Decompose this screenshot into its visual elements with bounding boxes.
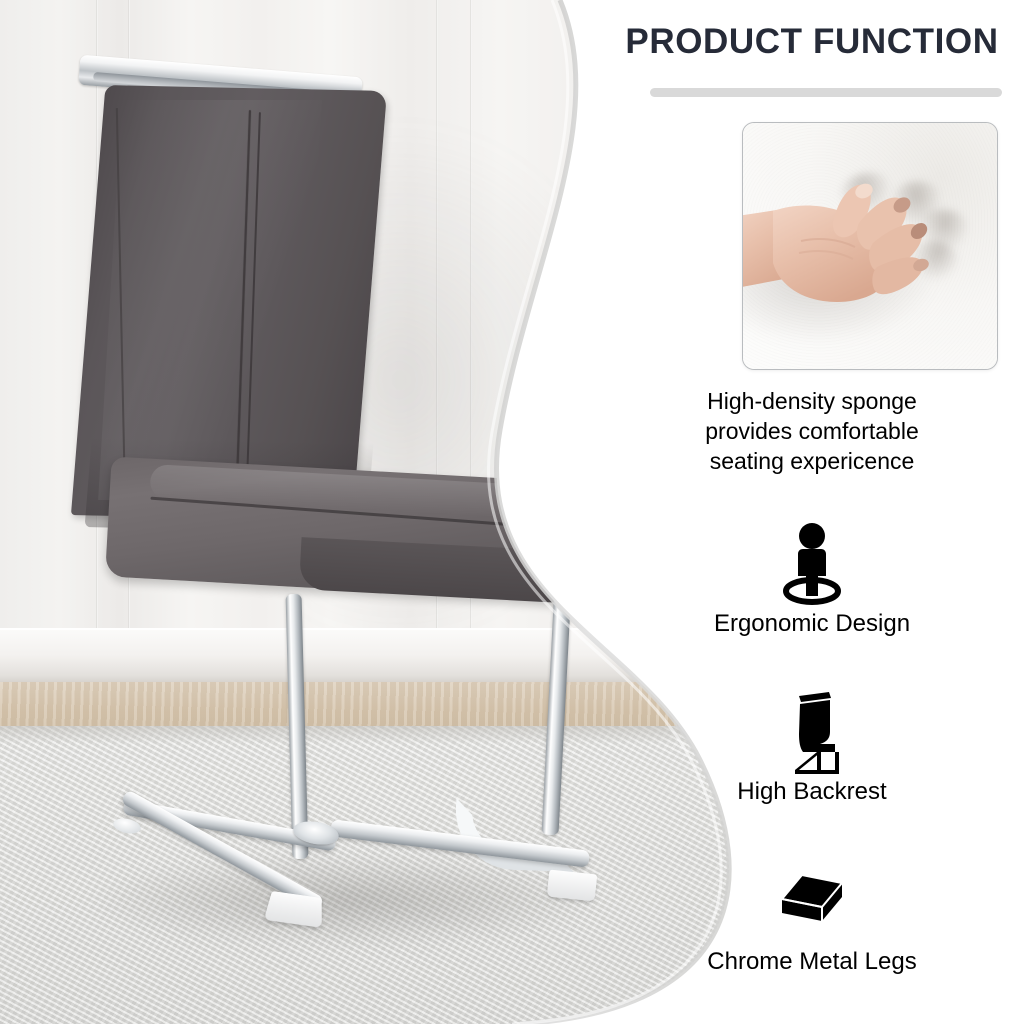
sponge-caption-line-1: High-density sponge bbox=[612, 386, 1012, 416]
hand-illustration bbox=[742, 157, 998, 357]
sponge-caption: High-density sponge provides comfortable… bbox=[612, 386, 1012, 476]
floor-glide bbox=[547, 870, 598, 902]
infographic-canvas: PRODUCT FUNCTION bbox=[0, 0, 1024, 1024]
chrome-leg-rear bbox=[286, 594, 309, 859]
feature-high-backrest: High Backrest bbox=[600, 686, 1024, 806]
info-panel: PRODUCT FUNCTION bbox=[600, 0, 1024, 1024]
page-title: PRODUCT FUNCTION bbox=[600, 22, 1024, 62]
feature-ergonomic-design: Ergonomic Design bbox=[600, 518, 1024, 638]
chrome-leg-front bbox=[541, 585, 571, 836]
feature-label: Chrome Metal Legs bbox=[600, 948, 1024, 976]
title-divider-bar bbox=[650, 88, 1002, 97]
feature-label: Ergonomic Design bbox=[600, 610, 1024, 638]
feature-chrome-metal-legs: Chrome Metal Legs bbox=[600, 856, 1024, 976]
sponge-caption-line-2: provides comfortable bbox=[612, 416, 1012, 446]
sponge-photo-card bbox=[742, 122, 998, 370]
sponge-caption-line-3: seating expericence bbox=[612, 446, 1012, 476]
metal-bar-icon bbox=[600, 856, 1024, 948]
feature-label: High Backrest bbox=[600, 778, 1024, 806]
high-back-chair-icon bbox=[600, 686, 1024, 778]
person-in-circle-icon bbox=[600, 518, 1024, 610]
chrome-base-cap bbox=[112, 816, 142, 836]
